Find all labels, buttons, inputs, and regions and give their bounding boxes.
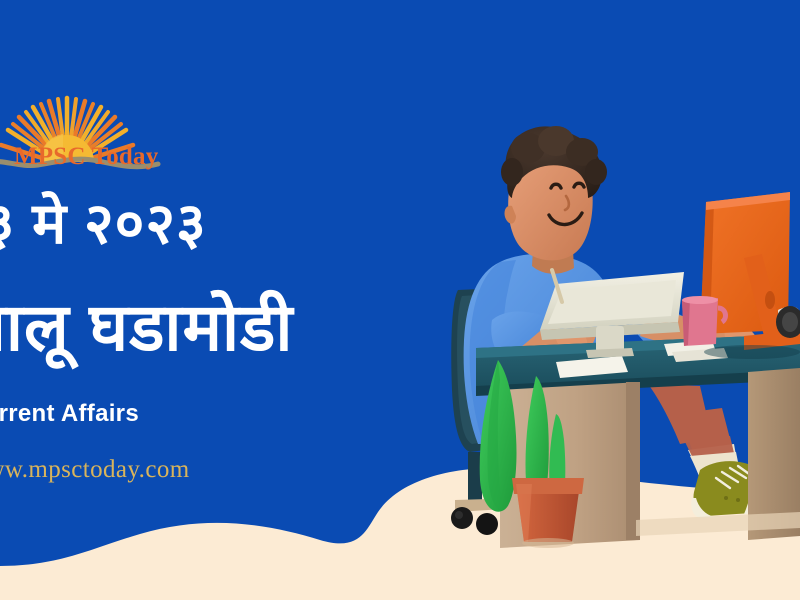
logo-wordmark: MPSC Today	[14, 143, 158, 171]
banner-canvas: MPSC Today २३ मे २०२३ चालू घडामोडी Curre…	[0, 0, 800, 600]
office-chair	[451, 288, 522, 535]
headline-title: चालू घडामोडी	[0, 294, 293, 360]
headline-subtitle: Current Affairs	[0, 400, 139, 428]
drawing-tablet	[540, 270, 684, 358]
monitor	[700, 192, 800, 359]
papers	[556, 340, 728, 378]
person-figure	[464, 126, 756, 496]
headphones	[776, 306, 800, 338]
sneaker	[691, 461, 788, 518]
potted-plant	[480, 360, 584, 548]
desk	[476, 334, 800, 548]
mug	[682, 296, 725, 346]
website-url: www.mpsctoday.com	[0, 456, 190, 484]
headline-date: २३ मे २०२३	[0, 196, 207, 253]
